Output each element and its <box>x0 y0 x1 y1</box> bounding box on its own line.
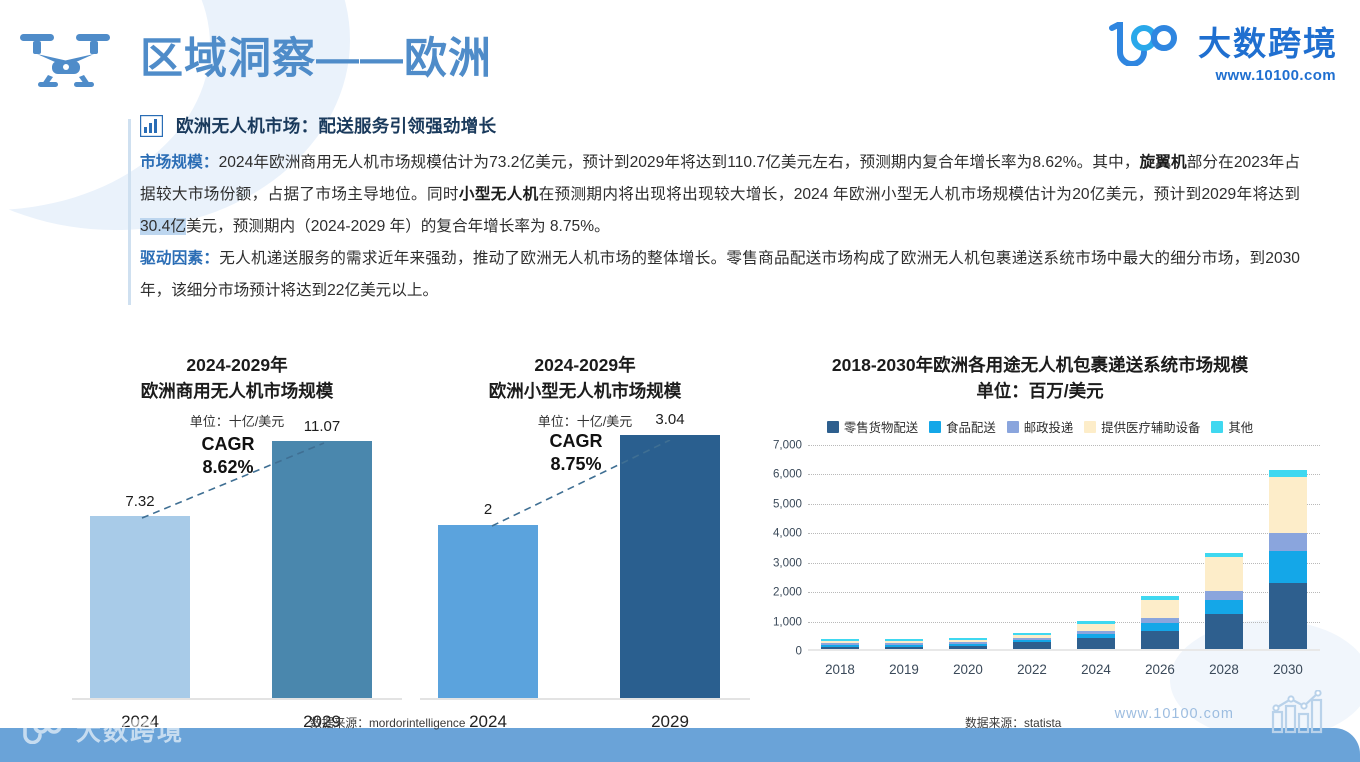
bar-segment <box>1269 551 1307 583</box>
bar-segment <box>1269 477 1307 533</box>
x-tick-label: 2024 <box>1064 662 1128 677</box>
page-header: 区域洞察——欧洲 大数跨境 www.10100.com <box>0 0 1360 108</box>
chart-title-line1: 2024-2029年 <box>72 352 402 378</box>
chart-baseline <box>420 698 750 700</box>
brand-name: 大数跨境 <box>1198 24 1338 64</box>
insight-text-block: 欧洲无人机市场：配送服务引领强劲增长 市场规模：2024年欧洲商用无人机市场规模… <box>140 113 1300 307</box>
bar-segment <box>1141 623 1179 631</box>
bar-segment <box>821 647 859 649</box>
bar-segment <box>1205 600 1243 615</box>
run-bold: 小型无人机 <box>459 186 539 203</box>
bar-value-label: 3.04 <box>620 411 720 428</box>
bar-segment <box>949 646 987 649</box>
stacked-bar-2018 <box>821 639 859 649</box>
chart-plot-wrapper: 01,0002,0003,0004,0005,0006,0007,000 201… <box>760 445 1320 673</box>
chart-title-line1: 2018-2030年欧洲各用途无人机包裹递送系统市场规模 <box>760 352 1320 378</box>
brand-url: www.10100.com <box>1102 67 1338 84</box>
cagr-annotation: CAGR 8.62% <box>168 433 288 479</box>
legend-swatch <box>1084 421 1096 433</box>
chart-title: 2024-2029年 欧洲商用无人机市场规模 <box>72 352 402 404</box>
x-tick-label: 2019 <box>872 662 936 677</box>
gridline <box>808 504 1320 505</box>
y-tick-label: 5,000 <box>773 497 802 510</box>
bar-segment <box>1077 638 1115 649</box>
run: 在预测期内将出现将出现较大增长，2024 年欧洲小型无人机市场规模估计为20亿美… <box>539 186 1300 203</box>
cagr-label: CAGR <box>516 430 636 453</box>
legend-label: 零售货物配送 <box>844 418 918 436</box>
chart-title: 2024-2029年 欧洲小型无人机市场规模 <box>420 352 750 404</box>
chart-baseline <box>808 649 1320 651</box>
run: 美元，预测期内（2024-2029 年）的复合年增长率为 8.75%。 <box>186 218 610 235</box>
footer-brand-name: 大数跨境 <box>76 712 184 748</box>
y-tick-label: 7,000 <box>773 439 802 452</box>
run: 2024年欧洲商用无人机市场规模估计为73.2亿美元，预计到2029年将达到11… <box>219 154 1140 171</box>
legend-item: 提供医疗辅助设备 <box>1084 418 1200 436</box>
bar-segment <box>1141 600 1179 618</box>
footer-brand-mark-icon <box>14 716 68 744</box>
chart-title-line2: 单位：百万/美元 <box>760 378 1320 404</box>
y-tick-label: 4,000 <box>773 527 802 540</box>
y-tick-label: 1,000 <box>773 615 802 628</box>
chart-title-line2: 欧洲小型无人机市场规模 <box>420 378 750 404</box>
bar-segment <box>1141 631 1179 649</box>
chart-parcel-delivery-market: 2018-2030年欧洲各用途无人机包裹递送系统市场规模 单位：百万/美元 零售… <box>760 352 1320 673</box>
chart-plot-area: 20182019202020222024202620282030 <box>808 445 1320 651</box>
bar-segment <box>1269 583 1307 649</box>
bar-chart-icon <box>140 115 163 137</box>
section-title: 欧洲无人机市场：配送服务引领强劲增长 <box>176 113 496 138</box>
gridline <box>808 474 1320 475</box>
source-note-left: 数据来源：mordorintelligence <box>310 714 465 731</box>
chart-title-line1: 2024-2029年 <box>420 352 750 378</box>
gridline <box>808 445 1320 446</box>
legend-item: 邮政投递 <box>1007 418 1074 436</box>
legend-swatch <box>1211 421 1223 433</box>
stacked-bar-2026 <box>1141 596 1179 649</box>
footer-url: www.10100.com <box>1115 706 1234 722</box>
x-tick-label: 2020 <box>936 662 1000 677</box>
cagr-value: 8.62% <box>168 456 288 479</box>
chart-plot-area: 2 3.04 CAGR 8.75% <box>420 440 750 700</box>
legend-swatch <box>1007 421 1019 433</box>
x-tick-label: 2028 <box>1192 662 1256 677</box>
bar-segment <box>1205 591 1243 600</box>
y-tick-label: 3,000 <box>773 556 802 569</box>
bar-segment <box>1077 624 1115 632</box>
brand-logo: 大数跨境 www.10100.com <box>1102 22 1338 84</box>
legend-label: 提供医疗辅助设备 <box>1101 418 1200 436</box>
footer-logo: 大数跨境 <box>14 712 184 748</box>
y-tick-label: 2,000 <box>773 586 802 599</box>
paragraph-label: 驱动因素： <box>140 250 219 267</box>
run-highlighted: 30.4亿 <box>140 218 186 235</box>
page-title: 区域洞察——欧洲 <box>140 30 492 88</box>
source-note-right: 数据来源：statista <box>965 714 1061 731</box>
legend-label: 其他 <box>1228 418 1253 436</box>
stacked-bar-2020 <box>949 638 987 649</box>
legend-swatch <box>929 421 941 433</box>
cagr-trend-line <box>72 440 402 700</box>
chart-commercial-drone-market: 2024-2029年 欧洲商用无人机市场规模 单位：十亿/美元 7.32 11.… <box>72 352 402 738</box>
run: 无人机递送服务的需求近年来强劲，推动了欧洲无人机市场的整体增长。零售商品配送市场… <box>140 250 1300 299</box>
cagr-value: 8.75% <box>516 453 636 476</box>
chart-title: 2018-2030年欧洲各用途无人机包裹递送系统市场规模 单位：百万/美元 <box>760 352 1320 404</box>
stacked-bar-2030 <box>1269 470 1307 649</box>
chart-baseline <box>72 698 402 700</box>
chart-legend: 零售货物配送食品配送邮政投递提供医疗辅助设备其他 <box>760 418 1320 436</box>
stacked-bar-2028 <box>1205 553 1243 649</box>
section-heading: 欧洲无人机市场：配送服务引领强劲增长 <box>140 113 1300 138</box>
left-accent-rule <box>128 119 131 305</box>
gridline <box>808 622 1320 623</box>
y-tick-label: 6,000 <box>773 468 802 481</box>
legend-label: 食品配送 <box>946 418 996 436</box>
cagr-trend-line <box>420 440 750 700</box>
legend-item: 零售货物配送 <box>827 418 918 436</box>
bar-segment <box>1269 533 1307 551</box>
growth-chart-icon <box>1270 690 1330 734</box>
paragraph-market-size: 市场规模：2024年欧洲商用无人机市场规模估计为73.2亿美元，预计到2029年… <box>140 147 1300 243</box>
x-tick-label: 2029 <box>620 712 720 732</box>
bar-segment <box>1013 642 1051 649</box>
x-tick-label: 2026 <box>1128 662 1192 677</box>
chart-x-axis: 2024 2029 <box>420 712 750 738</box>
run-bold: 旋翼机 <box>1140 154 1187 171</box>
cagr-annotation: CAGR 8.75% <box>516 430 636 476</box>
chart-y-axis: 01,0002,0003,0004,0005,0006,0007,000 <box>760 445 802 651</box>
bar-segment <box>1205 557 1243 591</box>
x-tick-label: 2018 <box>808 662 872 677</box>
chart-plot-area: 7.32 11.07 CAGR 8.62% <box>72 440 402 700</box>
stacked-bar-2024 <box>1077 621 1115 649</box>
chart-title-line2: 欧洲商用无人机市场规模 <box>72 378 402 404</box>
cagr-label: CAGR <box>168 433 288 456</box>
paragraph-label: 市场规模： <box>140 154 219 171</box>
stacked-bar-2019 <box>885 639 923 649</box>
legend-item: 食品配送 <box>929 418 996 436</box>
x-tick-label: 2030 <box>1256 662 1320 677</box>
x-tick-label: 2022 <box>1000 662 1064 677</box>
stacked-bar-2022 <box>1013 633 1051 649</box>
gridline <box>808 563 1320 564</box>
legend-label: 邮政投递 <box>1024 418 1074 436</box>
bar-segment <box>1205 614 1243 649</box>
gridline <box>808 592 1320 593</box>
brand-mark-icon <box>1102 22 1188 66</box>
chart-small-drone-market: 2024-2029年 欧洲小型无人机市场规模 单位：十亿/美元 2 3.04 C… <box>420 352 750 738</box>
drone-icon <box>18 28 128 90</box>
legend-swatch <box>827 421 839 433</box>
paragraph-drivers: 驱动因素：无人机递送服务的需求近年来强劲，推动了欧洲无人机市场的整体增长。零售商… <box>140 243 1300 307</box>
y-tick-label: 0 <box>796 645 802 658</box>
legend-item: 其他 <box>1211 418 1253 436</box>
gridline <box>808 533 1320 534</box>
bar-segment <box>885 647 923 649</box>
